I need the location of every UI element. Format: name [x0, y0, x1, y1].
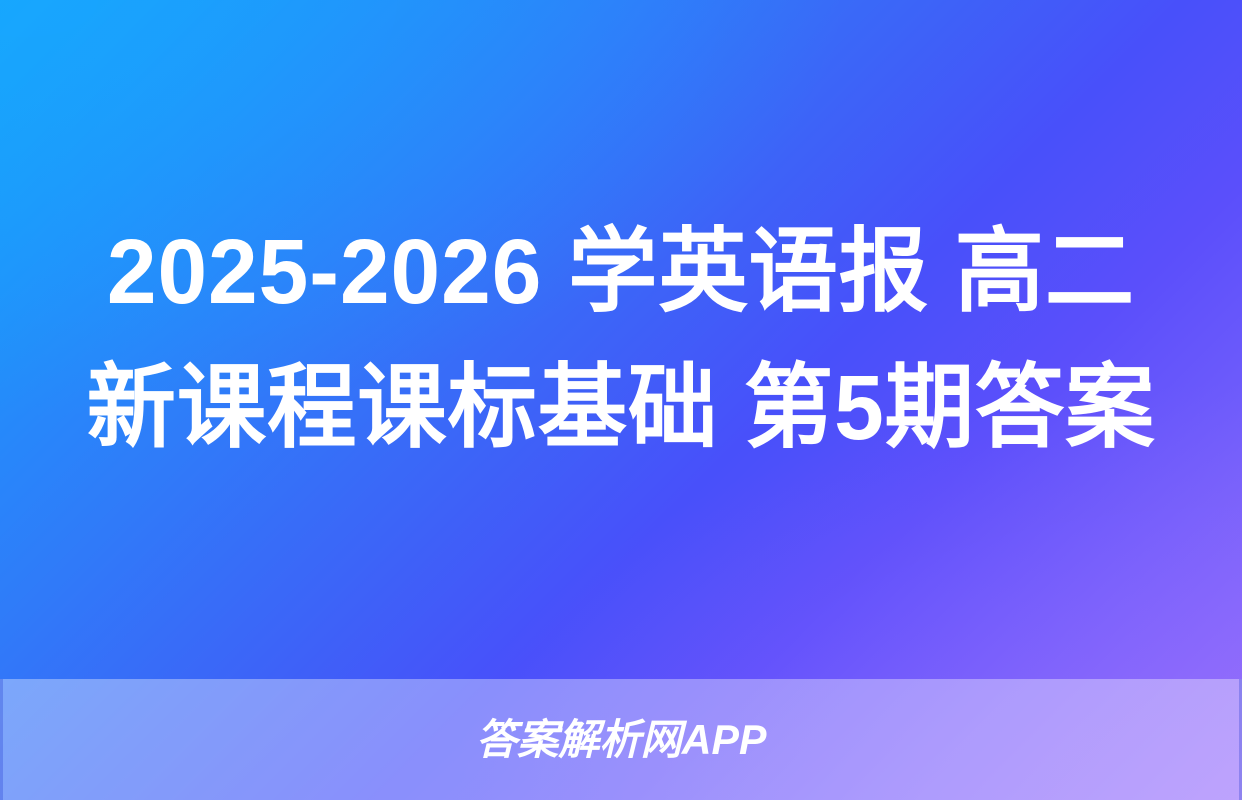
band-edge-left [0, 679, 3, 800]
title-area: 2025-2026 学英语报 高二 新课程课标基础 第5期答案 [0, 0, 1242, 679]
page-title: 2025-2026 学英语报 高二 新课程课标基础 第5期答案 [79, 204, 1163, 476]
watermark-text: 答案解析网APP [476, 719, 766, 761]
poster-canvas: 2025-2026 学英语报 高二 新课程课标基础 第5期答案 答案解析网APP [0, 0, 1242, 800]
watermark-band: 答案解析网APP [0, 679, 1242, 800]
